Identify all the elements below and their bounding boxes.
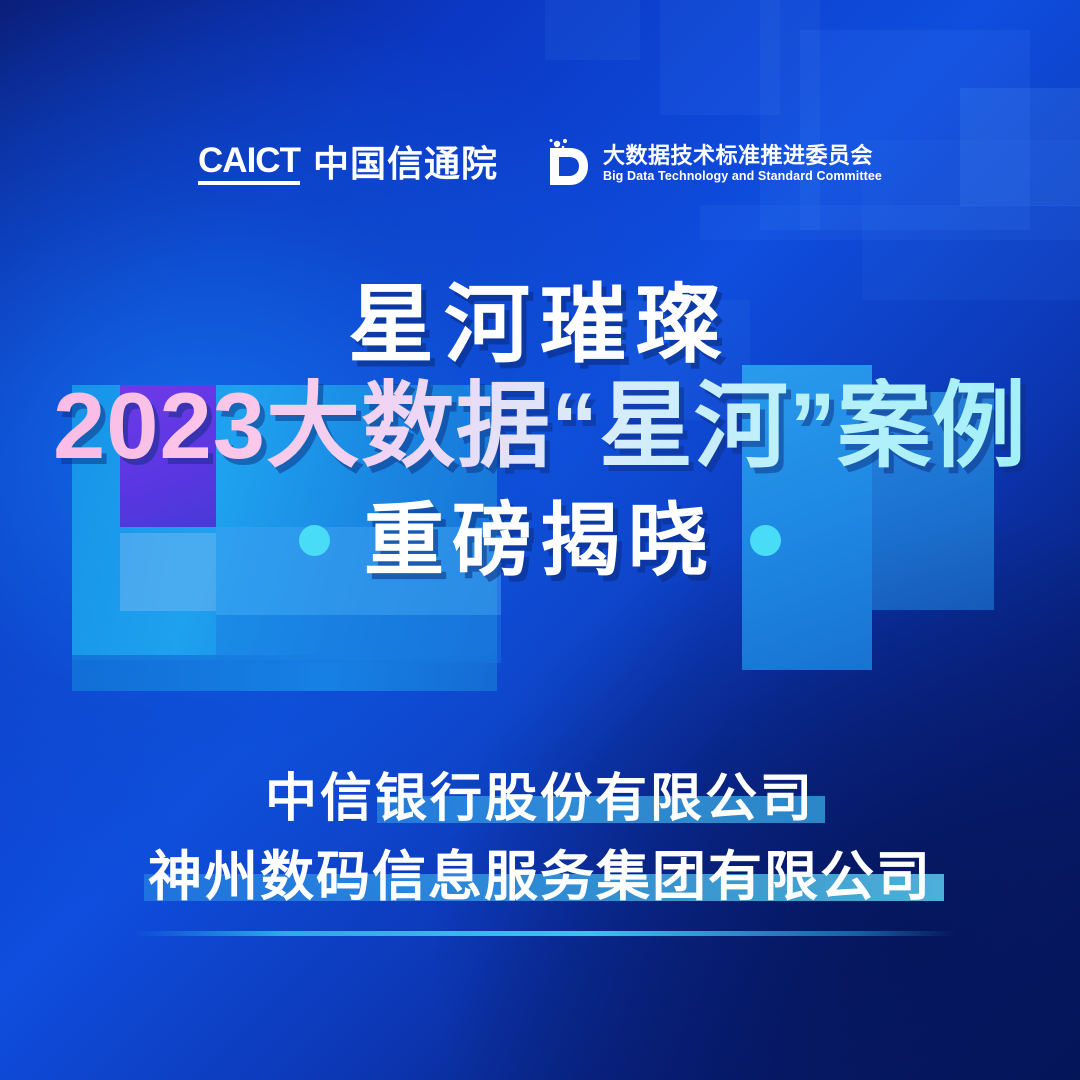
logo-header: CAICT 中国信通院 大数据技术标准推进委员会 Big Data Techno… xyxy=(0,138,1080,190)
bg-block-top-edge xyxy=(545,0,640,60)
committee-text: 大数据技术标准推进委员会 Big Data Technology and Sta… xyxy=(603,145,882,183)
winner-name: 神州数码信息服务集团有限公司 xyxy=(148,849,932,906)
bg-block-top-right-strip xyxy=(700,205,1080,240)
caict-underline xyxy=(198,181,300,185)
bg-block-left-deep xyxy=(216,615,501,663)
caict-name-cn: 中国信通院 xyxy=(313,146,498,182)
caict-wordmark: CAICT xyxy=(198,143,300,185)
d-letter-icon xyxy=(544,138,590,190)
bullet-dot-left-icon xyxy=(299,525,330,556)
poster-canvas: CAICT 中国信通院 大数据技术标准推进委员会 Big Data Techno… xyxy=(0,0,1080,1080)
winner-name: 中信银行股份有限公司 xyxy=(265,772,815,827)
bullet-dot-right-icon xyxy=(750,525,781,556)
headline-block: 星河璀璨 2023大数据“星河”案例 重磅揭晓 xyxy=(0,282,1080,581)
winner-item: 中信银行股份有限公司 xyxy=(259,772,821,827)
headline-line-3: 重磅揭晓 xyxy=(364,500,716,582)
headline-line-1: 星河璀璨 xyxy=(0,282,1080,370)
headline-line-2: 2023大数据“星河”案例 xyxy=(0,378,1080,474)
committee-name-en: Big Data Technology and Standard Committ… xyxy=(603,170,882,183)
committee-name-cn: 大数据技术标准推进委员会 xyxy=(603,145,882,167)
winner-list: 中信银行股份有限公司 神州数码信息服务集团有限公司 xyxy=(0,772,1080,905)
caict-abbrev: CAICT xyxy=(198,143,300,178)
caict-logo: CAICT 中国信通院 xyxy=(198,143,498,185)
committee-logo: 大数据技术标准推进委员会 Big Data Technology and Sta… xyxy=(544,138,882,190)
bottom-divider-rule xyxy=(135,931,955,936)
winner-item: 神州数码信息服务集团有限公司 xyxy=(142,849,938,906)
headline-line-3-row: 重磅揭晓 xyxy=(0,500,1080,582)
